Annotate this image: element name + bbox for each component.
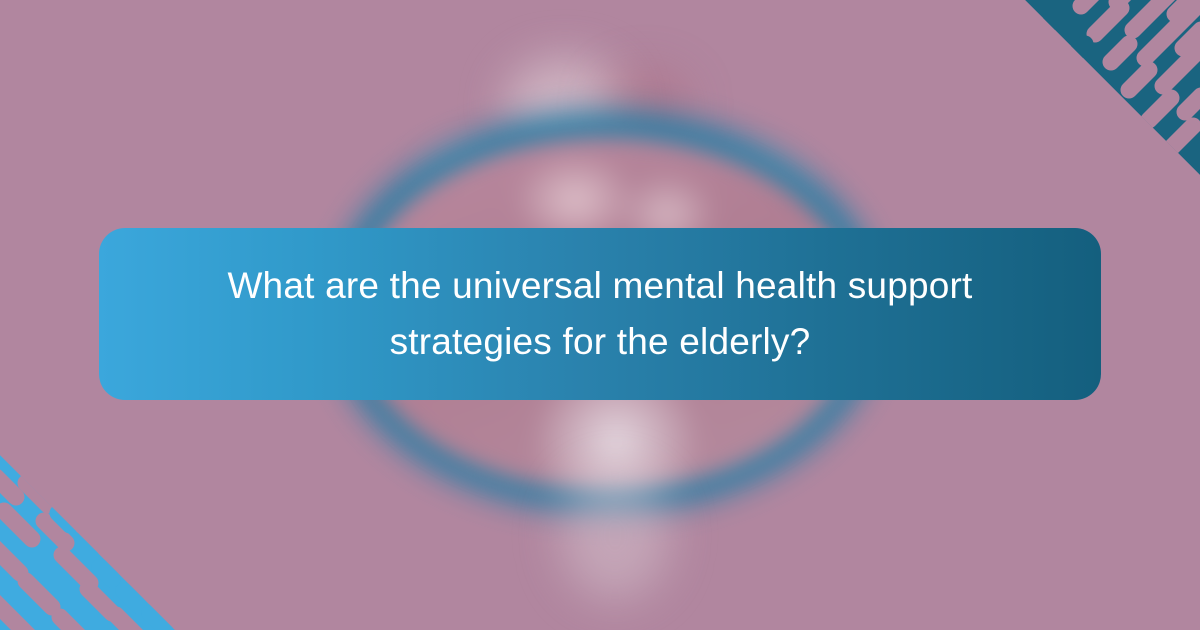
social-share-card: What are the universal mental health sup… bbox=[0, 0, 1200, 630]
headline-banner: What are the universal mental health sup… bbox=[99, 228, 1101, 400]
page-title: What are the universal mental health sup… bbox=[200, 258, 1000, 370]
